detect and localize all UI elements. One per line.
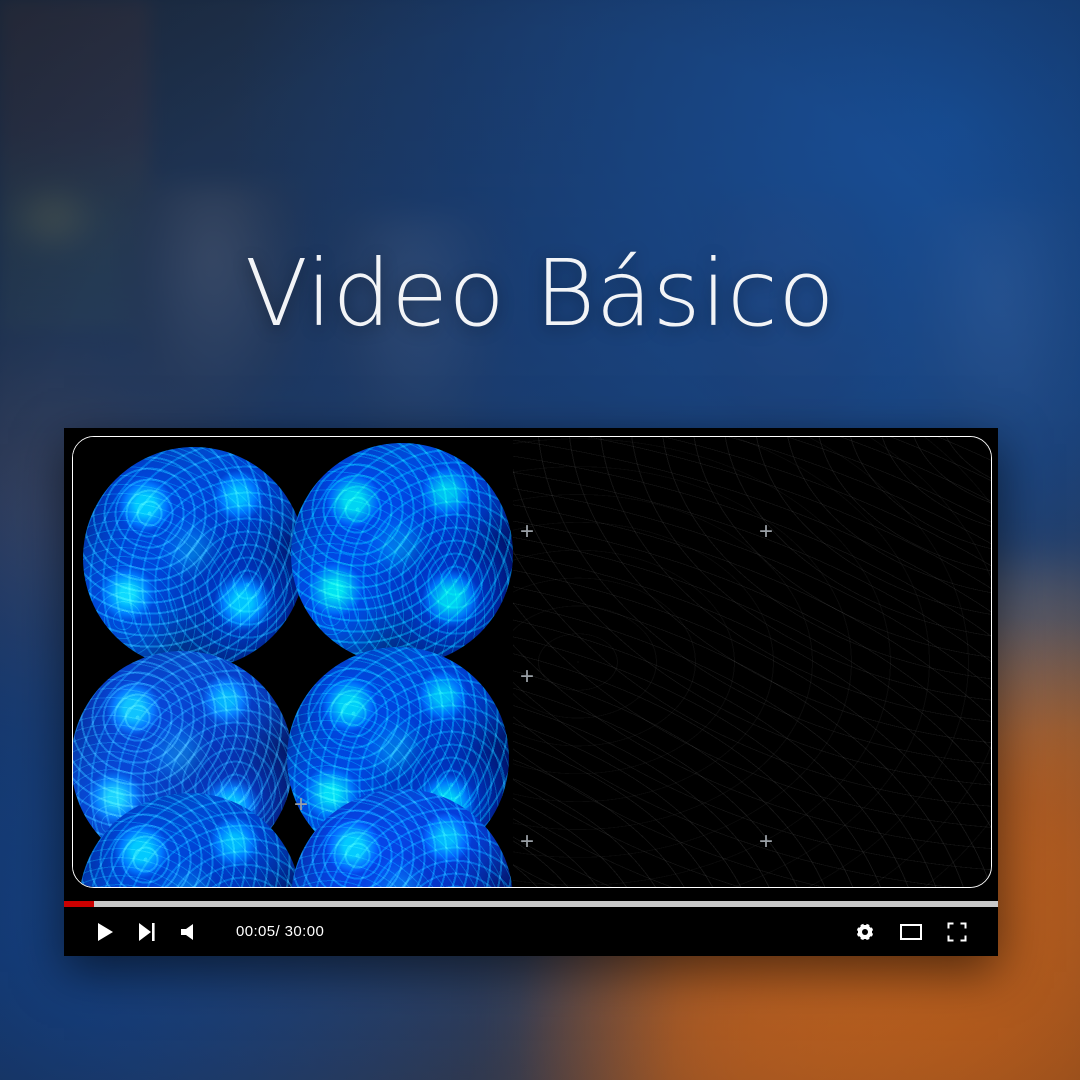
video-thumbnail[interactable]: + + + + + + — [72, 436, 992, 888]
collage-circle-1 — [83, 447, 305, 669]
volume-icon[interactable] — [178, 921, 200, 943]
player-controls-left: 00:05/ 30:00 — [64, 921, 324, 943]
video-player[interactable]: + + + + + + — [64, 428, 998, 956]
plus-mark-3: + — [520, 830, 534, 854]
screenshot-root: Video Básico + + + + + + — [0, 0, 1080, 1080]
settings-gear-icon[interactable] — [854, 921, 876, 943]
fullscreen-icon[interactable] — [946, 921, 968, 943]
plus-mark-1: + — [520, 520, 534, 544]
microscopy-collage — [73, 437, 513, 887]
page-title: Video Básico — [0, 248, 1080, 340]
play-icon[interactable] — [94, 921, 116, 943]
plus-mark-5: + — [294, 793, 308, 817]
collage-circle-5 — [79, 793, 301, 887]
miniplayer-icon[interactable] — [900, 921, 922, 943]
player-controls-right — [854, 921, 998, 943]
plus-mark-2: + — [520, 665, 534, 689]
collage-circle-6 — [291, 789, 513, 887]
plus-mark-4: + — [759, 520, 773, 544]
time-display: 00:05/ 30:00 — [236, 923, 324, 940]
player-control-bar: 00:05/ 30:00 — [64, 907, 998, 956]
next-track-icon[interactable] — [136, 921, 158, 943]
collage-circle-2 — [291, 443, 513, 665]
plus-mark-6: + — [759, 830, 773, 854]
